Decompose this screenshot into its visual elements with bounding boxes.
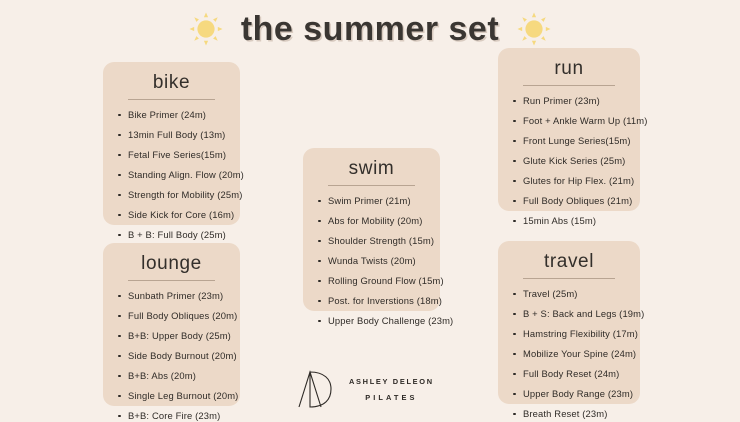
list-item[interactable]: Strength for Mobility (25m): [114, 189, 229, 202]
list-item[interactable]: Upper Body Challenge (23m): [314, 315, 429, 328]
card-divider: [328, 185, 415, 186]
card-title: bike: [114, 71, 229, 95]
list-item[interactable]: Upper Body Range (23m): [509, 388, 629, 401]
list-item[interactable]: Full Body Obliques (21m): [509, 195, 629, 208]
list-item[interactable]: B + S: Back and Legs (19m): [509, 308, 629, 321]
list-item[interactable]: Breath Reset (23m): [509, 408, 629, 421]
brand-logo: ASHLEY DELEON PILATES: [295, 362, 495, 410]
workout-list: Bike Primer (24m) 13min Full Body (13m) …: [114, 109, 229, 242]
list-item[interactable]: Single Leg Burnout (20m): [114, 390, 229, 403]
list-item[interactable]: Hamstring Flexibility (17m): [509, 328, 629, 341]
workout-card-travel[interactable]: travel Travel (25m) B + S: Back and Legs…: [498, 241, 640, 404]
list-item[interactable]: Abs for Mobility (20m): [314, 215, 429, 228]
workout-card-run[interactable]: run Run Primer (23m) Foot + Ankle Warm U…: [498, 48, 640, 211]
brand-name: ASHLEY DELEON: [349, 377, 434, 386]
ad-monogram-icon: [295, 363, 337, 409]
list-item[interactable]: Bike Primer (24m): [114, 109, 229, 122]
list-item[interactable]: Shoulder Strength (15m): [314, 235, 429, 248]
list-item[interactable]: 13min Full Body (13m): [114, 129, 229, 142]
list-item[interactable]: Sunbath Primer (23m): [114, 290, 229, 303]
workout-card-swim[interactable]: swim Swim Primer (21m) Abs for Mobility …: [303, 148, 440, 311]
card-divider: [128, 280, 215, 281]
card-title: run: [509, 57, 629, 81]
card-divider: [523, 85, 615, 86]
page-title: the summer set: [241, 12, 499, 46]
list-item[interactable]: Full Body Obliques (20m): [114, 310, 229, 323]
card-title: swim: [314, 157, 429, 181]
card-divider: [128, 99, 215, 100]
workout-card-bike[interactable]: bike Bike Primer (24m) 13min Full Body (…: [103, 62, 240, 225]
list-item[interactable]: Front Lunge Series(15m): [509, 135, 629, 148]
sun-icon: [517, 12, 551, 46]
sun-icon: [189, 12, 223, 46]
list-item[interactable]: Side Kick for Core (16m): [114, 209, 229, 222]
list-item[interactable]: Post. for Inverstions (18m): [314, 295, 429, 308]
list-item[interactable]: 15min Abs (15m): [509, 215, 629, 228]
list-item[interactable]: Glute Kick Series (25m): [509, 155, 629, 168]
list-item[interactable]: Rolling Ground Flow (15m): [314, 275, 429, 288]
list-item[interactable]: Standing Align. Flow (20m): [114, 169, 229, 182]
workout-list: Travel (25m) B + S: Back and Legs (19m) …: [509, 288, 629, 421]
list-item[interactable]: Full Body Reset (24m): [509, 368, 629, 381]
workout-list: Sunbath Primer (23m) Full Body Obliques …: [114, 290, 229, 422]
brand-text: ASHLEY DELEON PILATES: [349, 371, 434, 402]
card-title: lounge: [114, 252, 229, 276]
list-item[interactable]: Mobilize Your Spine (24m): [509, 348, 629, 361]
list-item[interactable]: B + B: Full Body (25m): [114, 229, 229, 242]
workout-list: Swim Primer (21m) Abs for Mobility (20m)…: [314, 195, 429, 328]
list-item[interactable]: Foot + Ankle Warm Up (11m): [509, 115, 629, 128]
list-item[interactable]: Fetal Five Series(15m): [114, 149, 229, 162]
card-title: travel: [509, 250, 629, 274]
list-item[interactable]: Run Primer (23m): [509, 95, 629, 108]
list-item[interactable]: B+B: Upper Body (25m): [114, 330, 229, 343]
workout-card-lounge[interactable]: lounge Sunbath Primer (23m) Full Body Ob…: [103, 243, 240, 406]
list-item[interactable]: Swim Primer (21m): [314, 195, 429, 208]
list-item[interactable]: Travel (25m): [509, 288, 629, 301]
list-item[interactable]: Side Body Burnout (20m): [114, 350, 229, 363]
list-item[interactable]: Wunda Twists (20m): [314, 255, 429, 268]
list-item[interactable]: B+B: Abs (20m): [114, 370, 229, 383]
card-divider: [523, 278, 615, 279]
list-item[interactable]: Glutes for Hip Flex. (21m): [509, 175, 629, 188]
workout-list: Run Primer (23m) Foot + Ankle Warm Up (1…: [509, 95, 629, 228]
list-item[interactable]: B+B: Core Fire (23m): [114, 410, 229, 422]
brand-subtitle: PILATES: [365, 393, 417, 402]
